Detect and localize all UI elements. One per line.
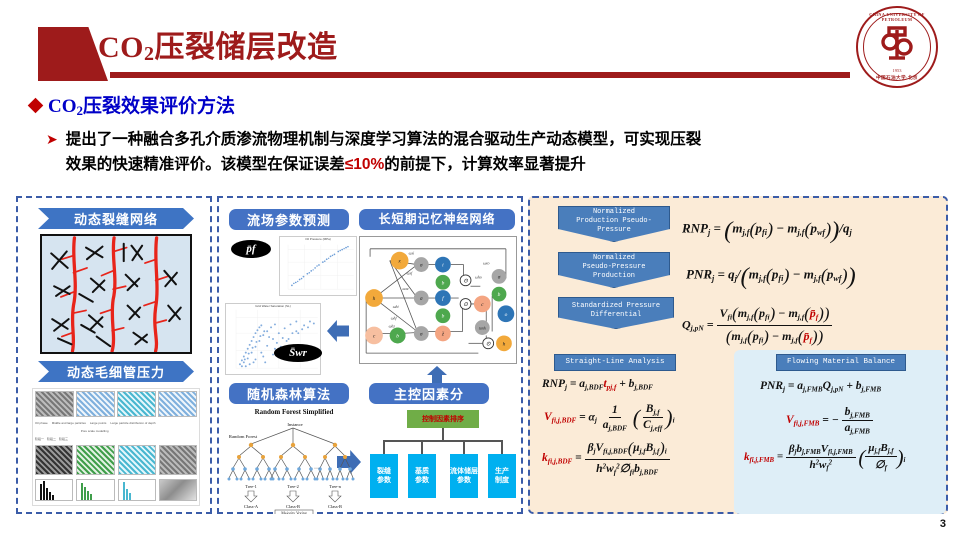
cap-stage-1: 阶段一	[35, 437, 44, 441]
cap-label-r1c4: Large particle distribution of depth	[110, 421, 155, 425]
mcf-child-fluid-reservoir: 流体储层参数	[450, 454, 478, 498]
svg-text:h: h	[503, 341, 506, 347]
logo-glyph-icon	[877, 22, 917, 66]
svg-text:b: b	[442, 314, 445, 320]
equation-rnp: RNPj = (mj,f(pfi) − mj,f(pwf))/qj	[682, 217, 852, 245]
scatter-plot-saturation: Grid Water Saturation (SL)	[225, 303, 321, 375]
banner-dynamic-capillary-pressure-label: 动态毛细管压力	[67, 362, 165, 381]
svg-text:o: o	[505, 312, 508, 318]
panel-fracture-and-capillary: 动态裂缝网络	[16, 196, 212, 514]
svg-text:b: b	[498, 292, 501, 298]
equation-pnr: PNRj = qj/(mj,f(pfi) − mj,f(pwf))	[686, 263, 856, 291]
svg-text:ωhi: ωhi	[393, 304, 399, 309]
mcf-child-production: 生产制度	[488, 454, 516, 498]
page-title-main: CO	[98, 31, 144, 64]
university-logo-icon: CHINA UNIVERSITY OF PETROLEUM 1953 中国石油大…	[856, 6, 938, 88]
cap-label-r1c3: Large points	[90, 421, 107, 425]
equation-vfi-bdf: Vfi,j,BDF = αj 1aj,BDF (Bj,fCj,eff)i	[544, 403, 675, 433]
svg-text:ωxo: ωxo	[483, 261, 490, 266]
header-underline	[110, 72, 850, 78]
main-control-factor-tree: 控制因素排序 裂缝参数 基质参数 流体储层参数 生产制度	[369, 408, 517, 514]
cap-stage-2: 阶段二	[47, 437, 56, 441]
logo-year: 1953	[856, 68, 938, 73]
label-straight-line-analysis: Straight-Line Analysis	[554, 354, 676, 371]
svg-text:ωhf: ωhf	[391, 316, 398, 321]
body-line-2: 效果的快速精准评价。该模型在保证误差≤10%的前提下，计算效率显著提升	[66, 152, 702, 177]
body-paragraph: ➤ 提出了一种融合多孔介质渗流物理机制与深度学习算法的混合驱动生产动态模型，可实…	[46, 127, 936, 177]
fracture-network-image	[40, 234, 192, 354]
rf-tree1-label: Tree-1	[245, 484, 257, 489]
svg-text:tanh: tanh	[479, 326, 486, 331]
page-title-rest: 压裂储层改造	[155, 31, 338, 64]
svg-text:ωhz: ωhz	[389, 324, 396, 329]
banner-main-control-factors: 主控因素分	[369, 383, 489, 404]
random-forest-diagram: Instance Random Forest	[223, 418, 363, 514]
rf-ellipsis: ···	[314, 466, 320, 472]
banner-dynamic-fracture-network-label: 动态裂缝网络	[74, 209, 158, 228]
svg-text:b: b	[396, 333, 399, 339]
equation-kfi-fmb: kfi,j,FMB = βjbj,FMBVfi,j,FMB h2wf2 (μj,…	[744, 442, 905, 472]
svg-text:σ: σ	[420, 263, 423, 269]
page-number: 3	[940, 518, 946, 530]
rf-instance-label: Instance	[287, 422, 302, 427]
label-average-pressure: p̄f	[231, 240, 271, 258]
capillary-pressure-figure: Oil phase Middle and large particles Lar…	[32, 388, 200, 506]
label-normalized-pseudo-pressure-production: Normalized Pseudo-Pressure Production	[558, 252, 670, 288]
banner-lstm-label: 长短期记忆神经网络	[378, 213, 495, 226]
panel-ml-models: 流场参数预测 长短期记忆神经网络 Oil Pressure (MPa)	[217, 196, 523, 514]
banner-dynamic-fracture-network: 动态裂缝网络	[38, 208, 194, 229]
logo-bottom-text: 中国石油大学·北京	[856, 75, 938, 81]
body-line-2-a: 效果的快速精准评价。该模型在保证误差	[66, 156, 345, 173]
mcf-root-box: 控制因素排序	[407, 410, 479, 428]
equation-kfi-bdf: kfi,j,BDF = βjVfi,j,BDF(μj,fBj,f)i h2wf2…	[542, 440, 670, 476]
rf-class-b2-label: Class-B	[328, 504, 342, 509]
svg-text:ωho: ωho	[475, 274, 482, 279]
random-forest-figure-title: Random Forest Simplified	[229, 408, 359, 416]
mcf-child-fracture: 裂缝参数	[370, 454, 398, 498]
svg-text:σ: σ	[420, 296, 423, 302]
scatter-plot-pressure: Oil Pressure (MPa)	[279, 236, 357, 296]
rf-class-b1-label: Class-B	[286, 504, 300, 509]
rf-forest-label: Random Forest	[229, 434, 258, 439]
rf-majority-label: Majority Voting	[281, 511, 307, 515]
svg-text:b: b	[442, 280, 445, 286]
cap-label-r1c2: Middle and large particles	[52, 421, 86, 425]
body-line-2-b: 的前提下，计算效率显著提升	[384, 156, 586, 173]
slide-header: CO2压裂储层改造 CHINA UNIVERSITY OF PETROLEUM …	[0, 0, 960, 92]
banner-flow-field-prediction-label: 流场参数预测	[247, 210, 331, 229]
svg-text:ωxi: ωxi	[409, 251, 415, 256]
page-title: CO2压裂储层改造	[98, 22, 338, 66]
banner-dynamic-capillary-pressure: 动态毛细管压力	[38, 361, 194, 382]
banner-flow-field-prediction: 流场参数预测	[229, 209, 349, 230]
label-flowing-material-balance: Flowing Material Balance	[776, 354, 906, 371]
svg-text:⊙: ⊙	[486, 341, 491, 347]
body-line-1: 提出了一种融合多孔介质渗流物理机制与深度学习算法的混合驱动生产动态模型，可实现压…	[66, 127, 702, 152]
svg-text:x: x	[397, 259, 401, 265]
rf-class-a-label: Class-A	[244, 504, 259, 509]
label-water-saturation: S̄wr	[274, 344, 322, 362]
error-threshold-highlight: ≤10%	[345, 156, 385, 173]
mcf-child-matrix: 基质参数	[408, 454, 436, 498]
svg-text:ωxz: ωxz	[402, 286, 409, 291]
rf-treen-label: Tree-n	[329, 484, 341, 489]
logo-top-text: CHINA UNIVERSITY OF PETROLEUM	[856, 12, 938, 22]
banner-random-forest-label: 随机森林算法	[247, 384, 331, 403]
lstm-cell-diagram: xhc b σσσ if z̃ bb c tanh h σb o ⊙⊙ ⊙ ωx…	[359, 236, 517, 364]
svg-text:⊙: ⊙	[463, 302, 468, 308]
svg-text:σ: σ	[498, 274, 501, 280]
rf-tree2-label: Tree-2	[287, 484, 299, 489]
cap-stage-3: 阶段三	[59, 437, 68, 441]
equation-qpn: Qj,pN = Vfi(mj,f(pfi) − mj,f(p̄f)) (mj,f…	[682, 304, 832, 347]
equation-vfi-fmb: Vfi,j,FMB = − bj,FMBaj,FMB	[786, 406, 873, 436]
svg-text:σ: σ	[420, 331, 423, 337]
svg-text:ωxf: ωxf	[407, 270, 414, 275]
equation-pnr-fmb: PNRj = aj,FMBQj,pN + bj,FMB	[760, 380, 881, 393]
equation-rnp-bdf: RNPj = aj,BDFtpj,f + bj,BDF	[542, 378, 653, 391]
panel-equations: Normalized Production Pseudo- Pressure R…	[528, 196, 948, 514]
svg-text:h: h	[373, 296, 376, 302]
banner-main-control-factors-label: 主控因素分	[394, 384, 464, 403]
diamond-bullet-icon	[28, 97, 44, 113]
label-standardized-pressure-differential: Standardized Pressure Differential	[558, 297, 674, 329]
cap-label-r1c1: Oil phase	[35, 421, 48, 425]
section-heading: CO2压裂效果评价方法	[30, 91, 235, 119]
arrow-bullet-icon: ➤	[46, 127, 58, 177]
page-title-subscript: 2	[144, 43, 155, 65]
banner-random-forest: 随机森林算法	[229, 383, 349, 404]
cap-label-r2: Pore scale modelling	[35, 429, 154, 433]
section-heading-rest: 压裂效果评价方法	[83, 96, 235, 117]
svg-text:⊙: ⊙	[463, 278, 468, 284]
label-normalized-production-pseudo-pressure: Normalized Production Pseudo- Pressure	[558, 206, 670, 242]
arrow-lstm-to-flowfield-icon	[327, 320, 349, 342]
section-heading-main: CO	[48, 96, 77, 117]
banner-lstm: 长短期记忆神经网络	[359, 209, 515, 230]
